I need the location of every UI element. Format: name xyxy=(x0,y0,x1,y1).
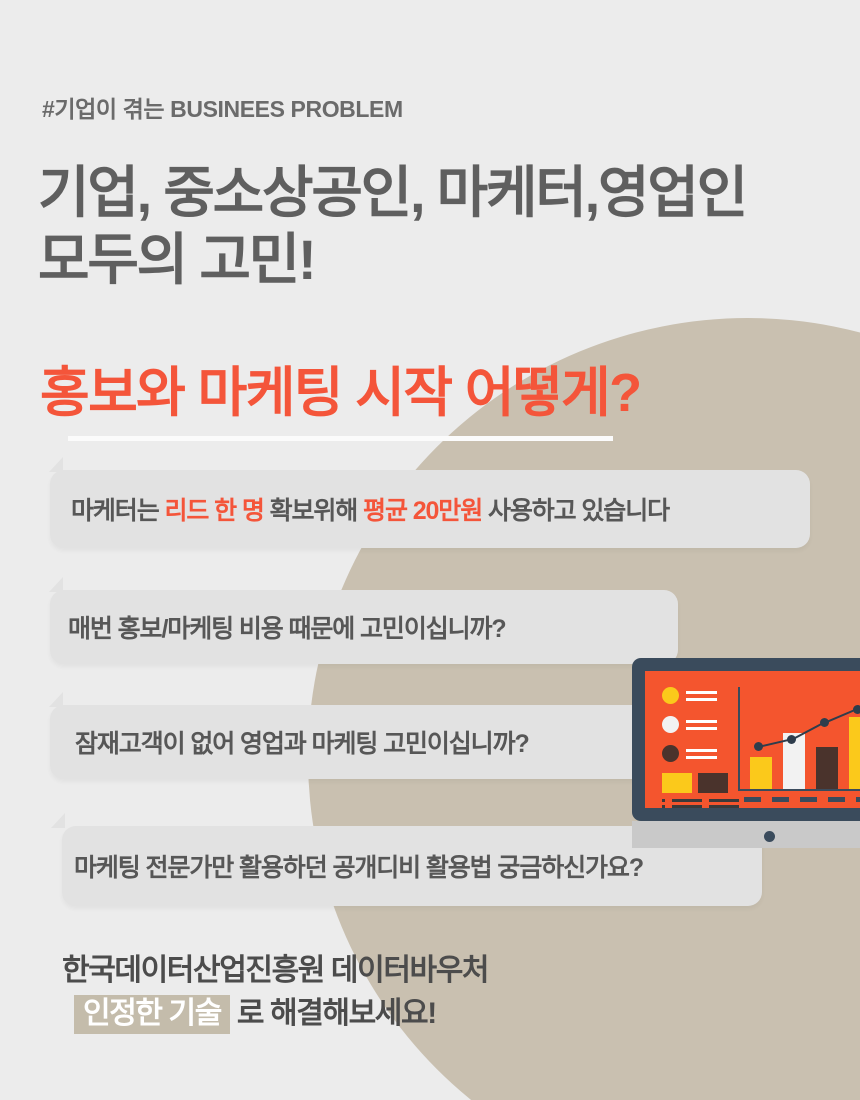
speech-bubble-2: 매번 홍보/마케팅 비용 때문에 고민이십니까? xyxy=(50,590,678,664)
footer-highlight: 인정한 기술 xyxy=(74,995,230,1034)
footer-suffix: 로 해결해보세요! xyxy=(230,997,436,1030)
eyebrow-label: #기업이 겪는 BUSINEES PROBLEM xyxy=(42,90,403,124)
headline-line-1: 기업, 중소상공인, 마케터,영업인 xyxy=(38,160,838,227)
speech-bubble-3: 잠재고객이 없어 영업과 마케팅 고민이십니까? xyxy=(50,705,678,779)
bubble-2-text: 매번 홍보/마케팅 비용 때문에 고민이십니까? xyxy=(68,609,506,645)
chart-point-3 xyxy=(820,718,829,727)
divider-line xyxy=(68,436,613,441)
chart-baseline-dashes xyxy=(744,797,860,802)
monitor-illustration xyxy=(632,658,860,848)
legend-lines-1 xyxy=(686,691,717,701)
legend-dot-white-icon xyxy=(662,716,679,733)
monitor-stand-chin xyxy=(632,821,860,848)
footer-line-2: 인정한 기술 로 해결해보세요! xyxy=(62,993,488,1036)
text-lines-col-1 xyxy=(672,799,702,808)
headline-line-2: 모두의 고민! xyxy=(38,227,838,294)
legend-swatches xyxy=(662,773,728,793)
bubble-1-text: 마케터는 리드 한 명 확보위해 평균 20만원 사용하고 있습니다 xyxy=(71,491,669,527)
speech-bubble-1: 마케터는 리드 한 명 확보위해 평균 20만원 사용하고 있습니다 xyxy=(50,470,810,548)
bullet-dashes xyxy=(662,799,665,808)
swatch-brown-icon xyxy=(698,773,728,793)
chart-bar-1 xyxy=(750,757,772,789)
legend-row-2 xyxy=(662,716,717,733)
chart-x-axis xyxy=(738,789,860,791)
text-lines-block xyxy=(662,799,739,808)
chart-bar-3 xyxy=(816,747,838,789)
page-title: 기업, 중소상공인, 마케터,영업인 모두의 고민! xyxy=(38,160,838,293)
bubble-4-text: 마케팅 전문가만 활용하던 공개디비 활용법 궁금하신가요? xyxy=(74,848,643,884)
chart-point-4 xyxy=(853,705,860,714)
legend-row-1 xyxy=(662,687,717,704)
legend-lines-2 xyxy=(686,720,717,730)
chart-y-axis xyxy=(738,687,740,791)
text-lines-col-2 xyxy=(709,799,739,808)
chart-point-2 xyxy=(787,735,796,744)
legend-lines-3 xyxy=(686,749,717,759)
chart-point-1 xyxy=(754,742,763,751)
chart-bar-4 xyxy=(849,717,860,789)
legend-row-3 xyxy=(662,745,717,762)
monitor-screen xyxy=(645,671,860,808)
bubble-3-text: 잠재고객이 없어 영업과 마케팅 고민이십니까? xyxy=(75,724,529,760)
monitor-power-dot-icon xyxy=(764,831,775,842)
swatch-yellow-icon xyxy=(662,773,692,793)
footer-line-1: 한국데이터산업진흥원 데이터바우처 xyxy=(62,950,488,993)
footer-callout: 한국데이터산업진흥원 데이터바우처 인정한 기술 로 해결해보세요! xyxy=(62,950,488,1035)
legend-dot-brown-icon xyxy=(662,745,679,762)
legend-dot-yellow-icon xyxy=(662,687,679,704)
subheadline: 홍보와 마케팅 시작 어떻게? xyxy=(40,348,640,427)
infographic-page: #기업이 겪는 BUSINEES PROBLEM 기업, 중소상공인, 마케터,… xyxy=(0,0,860,1100)
